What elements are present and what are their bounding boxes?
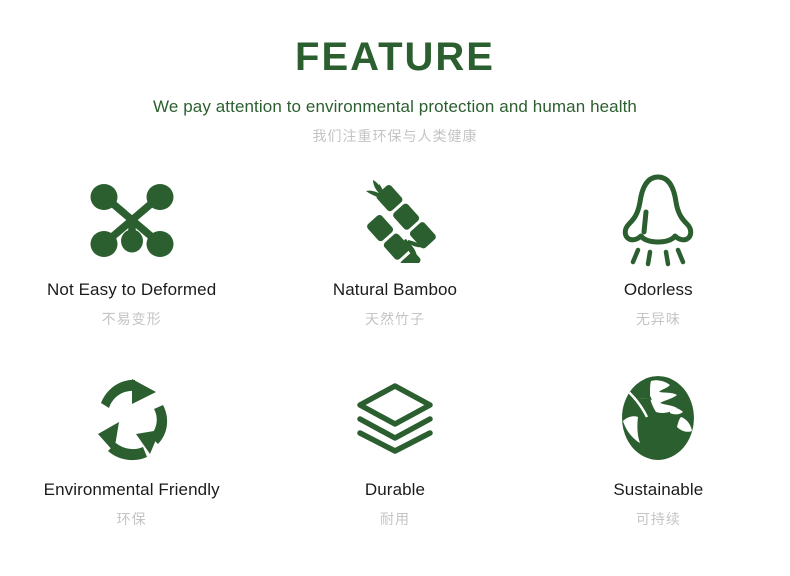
bamboo-icon xyxy=(352,170,438,270)
feature-label-en: Natural Bamboo xyxy=(333,280,457,300)
subtitle-english: We pay attention to environmental protec… xyxy=(0,97,790,117)
feature-item-odorless: Odorless 无异味 xyxy=(527,170,790,366)
feature-label-en: Not Easy to Deformed xyxy=(47,280,216,300)
molecule-structure-icon xyxy=(86,170,178,270)
feature-label-en: Odorless xyxy=(624,280,693,300)
feature-label-en: Sustainable xyxy=(613,480,703,500)
globe-leaf-icon xyxy=(617,366,699,470)
feature-label-cn: 天然竹子 xyxy=(365,311,425,328)
layers-stack-icon xyxy=(355,366,435,470)
feature-label-en: Durable xyxy=(365,480,425,500)
subtitle-chinese: 我们注重环保与人类健康 xyxy=(0,128,790,145)
feature-label-cn: 环保 xyxy=(117,511,147,528)
feature-label-cn: 不易变形 xyxy=(102,311,162,328)
recycle-icon xyxy=(87,366,177,470)
page-header: FEATURE We pay attention to environmenta… xyxy=(0,0,790,144)
feature-label-en: Environmental Friendly xyxy=(44,480,220,500)
feature-label-cn: 无异味 xyxy=(636,311,681,328)
feature-page: FEATURE We pay attention to environmenta… xyxy=(0,0,790,576)
nose-icon xyxy=(618,170,698,270)
feature-item-durable: Durable 耐用 xyxy=(263,366,526,562)
feature-label-cn: 耐用 xyxy=(380,511,410,528)
feature-item-environmental-friendly: Environmental Friendly 环保 xyxy=(0,366,263,562)
feature-grid: Not Easy to Deformed 不易变形 xyxy=(0,170,790,562)
feature-label-cn: 可持续 xyxy=(636,511,681,528)
page-title: FEATURE xyxy=(0,36,790,79)
feature-item-sustainable: Sustainable 可持续 xyxy=(527,366,790,562)
feature-item-natural-bamboo: Natural Bamboo 天然竹子 xyxy=(263,170,526,366)
feature-item-not-easy-to-deformed: Not Easy to Deformed 不易变形 xyxy=(0,170,263,366)
